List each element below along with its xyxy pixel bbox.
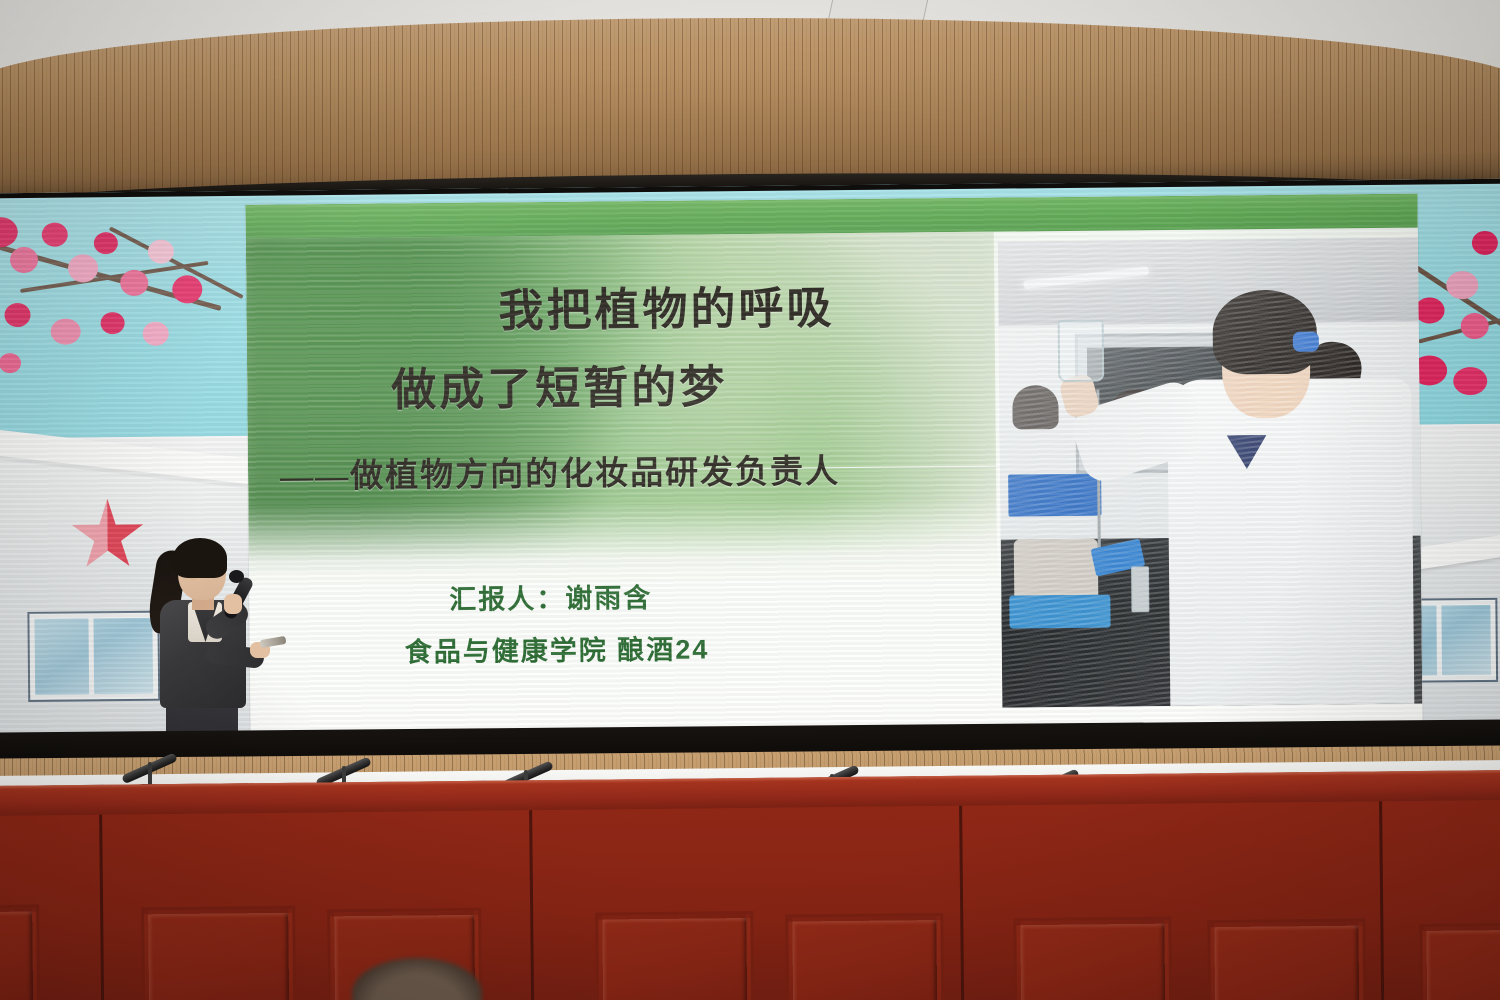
podium-panel [0,907,37,1000]
slide-presenter-name: 汇报人：谢雨含 [449,576,652,617]
presentation-slide: 我把植物的呼吸 做成了短暂的梦 ——做植物方向的化妆品研发负责人 汇报人：谢雨含… [245,194,1422,737]
blossom [1414,297,1444,323]
blossom [101,312,125,334]
blossom [68,254,98,282]
blossom [1472,231,1498,255]
slide-affiliation: 食品与健康学院 酿酒24 [405,627,710,669]
blossom [42,223,68,247]
blossom [1446,271,1478,299]
blossom [51,318,81,344]
blossom [1461,313,1489,339]
building-window [29,612,158,699]
speaker-hair [173,538,227,578]
speaker-hand-upper [224,594,242,614]
podium-panel [1422,926,1500,1000]
blossom [1453,367,1487,395]
blossom [120,270,148,296]
podium-desk [0,770,1500,1000]
photo-light-wash [998,238,1422,708]
blossom [4,303,30,327]
red-star-emblem [70,498,145,573]
slide-title-line-2: 做成了短暂的梦 [391,350,728,418]
auditorium-scene: 我把植物的呼吸 做成了短暂的梦 ——做植物方向的化妆品研发负责人 汇报人：谢雨含… [0,0,1500,1000]
podium-panel [1016,920,1169,1000]
blossom [10,247,38,273]
slide-foliage-fade [248,498,997,585]
podium-panel [598,914,751,1000]
blossom [172,275,202,303]
microphone-head-icon [229,570,244,583]
slide-subtitle: ——做植物方向的化妆品研发负责人 [280,444,840,497]
podium-panel [788,916,941,1000]
blossom [148,240,174,264]
blossom [143,322,169,346]
slide-lab-photo [998,238,1422,708]
podium-panel [1210,922,1363,1000]
podium-panel [144,909,293,1000]
slide-title-line-1: 我把植物的呼吸 [498,271,835,339]
blossom [94,232,118,254]
